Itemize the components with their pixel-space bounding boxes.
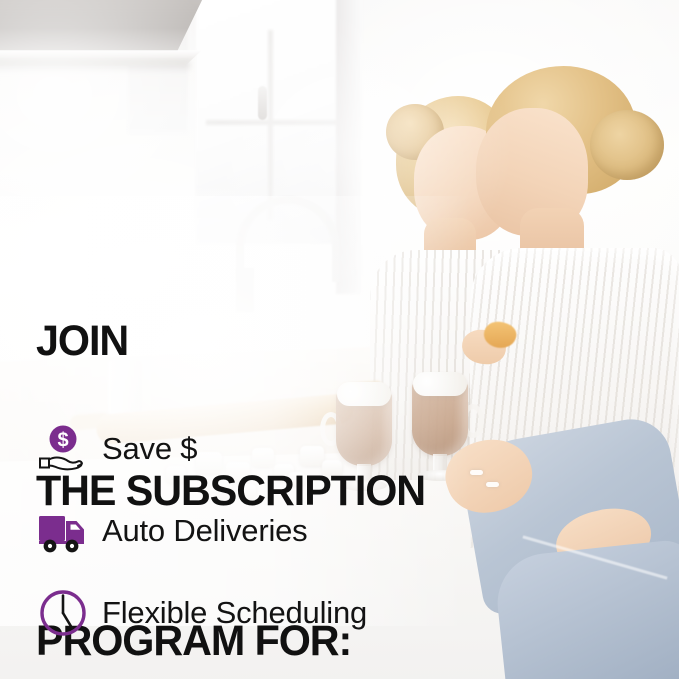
benefit-item-flexible-scheduling: Flexible Scheduling xyxy=(36,584,367,642)
hand-holding-coin-icon: $ xyxy=(36,421,92,477)
benefits-list: $ Save $ xyxy=(36,420,367,642)
text-overlay: JOIN THE SUBSCRIPTION PROGRAM FOR: $ Sav… xyxy=(0,0,679,679)
benefit-item-auto-deliveries: Auto Deliveries xyxy=(36,502,367,560)
delivery-truck-icon xyxy=(36,503,92,559)
benefit-label: Auto Deliveries xyxy=(102,513,307,549)
clock-icon xyxy=(36,585,92,641)
ad-creative: JOIN THE SUBSCRIPTION PROGRAM FOR: $ Sav… xyxy=(0,0,679,679)
benefit-label: Save $ xyxy=(102,431,197,467)
headline-line-1: JOIN xyxy=(36,316,425,366)
svg-text:$: $ xyxy=(57,430,68,452)
benefit-label: Flexible Scheduling xyxy=(102,595,367,631)
benefit-item-save: $ Save $ xyxy=(36,420,367,478)
